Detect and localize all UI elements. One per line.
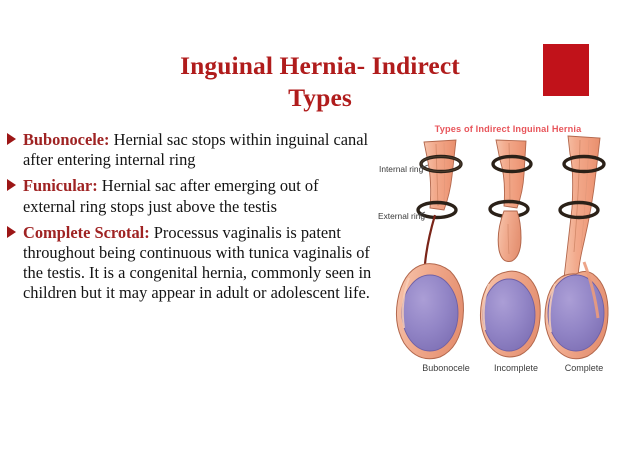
diagram-incomplete	[480, 140, 540, 357]
list-item-term: Bubonocele:	[23, 130, 110, 149]
figure-caption-incomplete: Incomplete	[478, 363, 554, 373]
diagram-complete	[545, 136, 608, 359]
label-external-ring: External ring	[378, 211, 425, 221]
list-item-term: Complete Scrotal:	[23, 223, 150, 242]
page-title: Inguinal Hernia- Indirect Types	[110, 50, 530, 114]
list-item: Funicular: Hernial sac after emerging ou…	[4, 176, 372, 216]
figure-caption-complete: Complete	[546, 363, 622, 373]
hernia-types-figure: Types of Indirect Inguinal Hernia	[378, 112, 638, 382]
list-item: Bubonocele: Hernial sac stops within ing…	[4, 130, 372, 170]
list-item-term: Funicular:	[23, 176, 98, 195]
triangle-right-bullet-icon	[7, 226, 16, 238]
page-title-line-1: Inguinal Hernia- Indirect	[110, 50, 530, 82]
hernia-illustration	[378, 112, 638, 382]
bullet-list: Bubonocele: Hernial sac stops within ing…	[4, 130, 372, 310]
page-title-line-2: Types	[110, 82, 530, 114]
decorative-red-block	[543, 44, 589, 96]
triangle-right-bullet-icon	[7, 179, 16, 191]
figure-caption-bubonocele: Bubonocele	[408, 363, 484, 373]
triangle-right-bullet-icon	[7, 133, 16, 145]
list-item: Complete Scrotal: Processus vaginalis is…	[4, 223, 372, 304]
label-internal-ring: Internal ring	[379, 164, 423, 174]
